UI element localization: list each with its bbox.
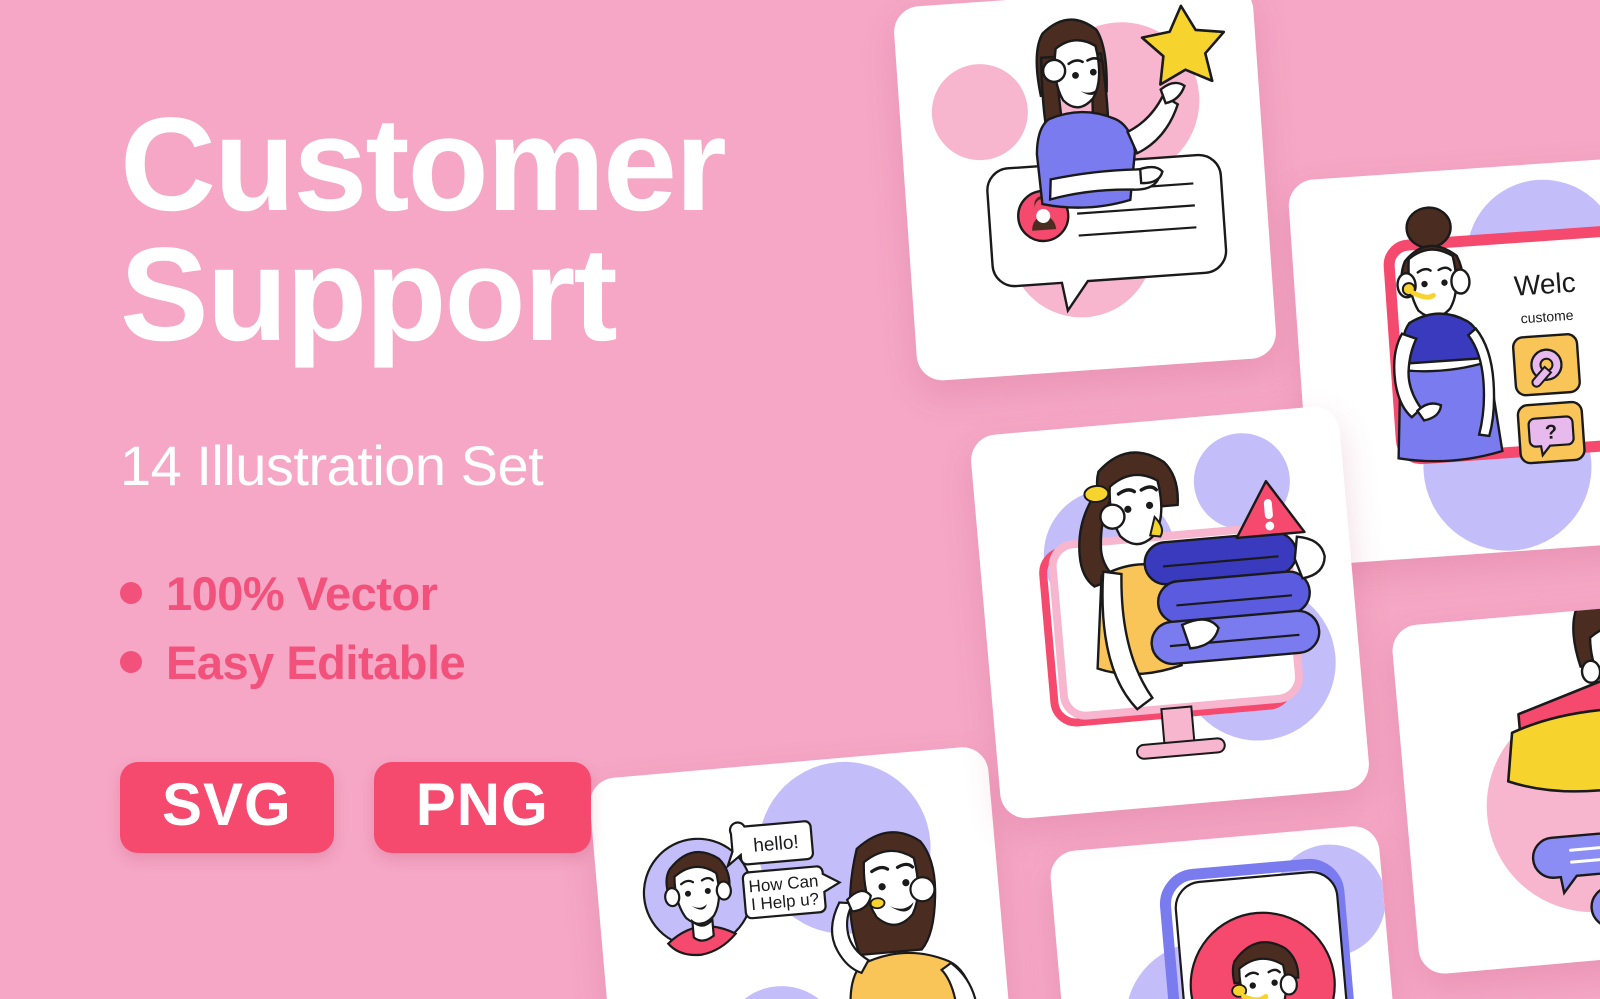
title-line-1: Customer	[120, 91, 725, 239]
format-badges: SVG PNG	[120, 762, 820, 853]
headset-mic-icon	[870, 898, 885, 909]
poster-stage: Customer Support 14 Illustration Set 100…	[0, 0, 1600, 999]
earphone-icon	[909, 876, 935, 902]
svg-text:?: ?	[1544, 421, 1558, 444]
phone-frame	[1163, 862, 1357, 999]
badge-svg: SVG	[120, 762, 334, 853]
welcome-heading: Welc	[1513, 267, 1577, 302]
mobile-support-illustration	[1048, 824, 1401, 999]
feature-item: Easy Editable	[120, 635, 820, 690]
ticket-stack	[1143, 529, 1321, 665]
hand	[1293, 534, 1327, 578]
title-line-2: Support	[120, 230, 820, 360]
feature-item: 100% Vector	[120, 566, 820, 621]
subtitle: 14 Illustration Set	[120, 433, 820, 498]
feature-label: Easy Editable	[166, 635, 465, 690]
decorative-circle	[929, 61, 1031, 163]
customer-review-illustration	[892, 0, 1277, 382]
bullet-icon	[120, 582, 142, 604]
earphone-icon	[1099, 504, 1125, 530]
decorative-circle	[717, 981, 847, 999]
person-figure	[1570, 598, 1600, 695]
page-title: Customer Support	[120, 100, 820, 361]
earphone-icon	[1042, 59, 1065, 82]
feature-list: 100% Vector Easy Editable	[120, 566, 820, 690]
hero-copy: Customer Support 14 Illustration Set 100…	[120, 100, 820, 853]
badge-png: PNG	[374, 762, 591, 853]
earring-icon	[1451, 269, 1471, 294]
support-tickets-illustration	[969, 405, 1371, 821]
feature-label: 100% Vector	[166, 566, 437, 621]
bullet-icon	[120, 651, 142, 673]
announcement-illustration	[1390, 598, 1600, 975]
